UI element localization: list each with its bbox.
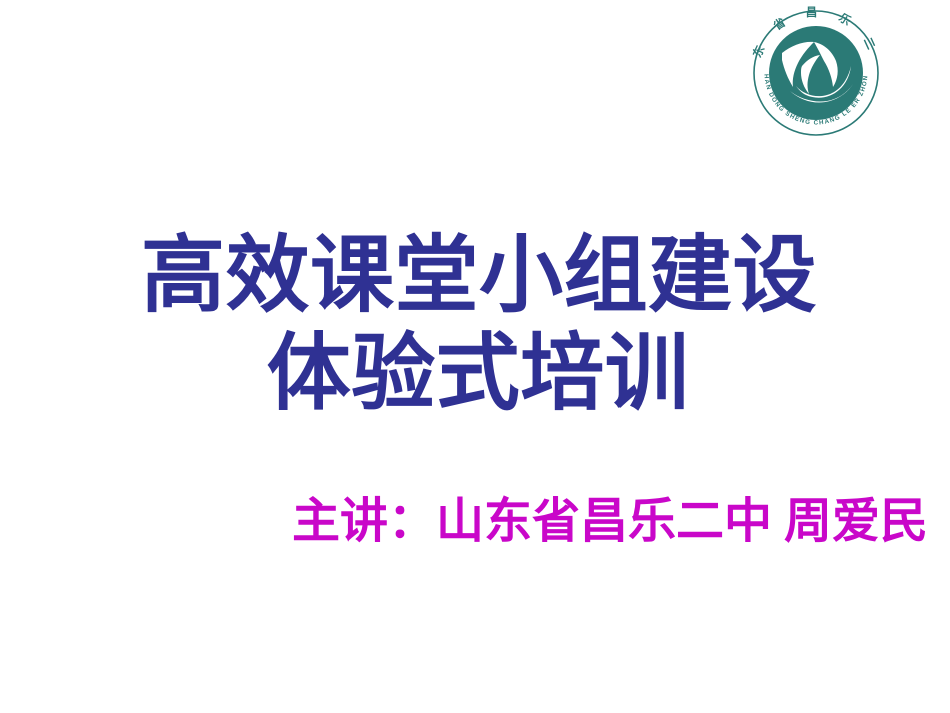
slide-presenter: 主讲：山东省昌乐二中 周爱民 xyxy=(0,493,950,551)
title-line-1: 高效课堂小组建设 xyxy=(0,228,950,326)
school-logo: 山 东 省 昌 乐 二 中 SHAN DONG SHENG CHANG LE E… xyxy=(744,3,888,137)
presentation-slide: 山 东 省 昌 乐 二 中 SHAN DONG SHENG CHANG LE E… xyxy=(0,0,950,713)
slide-title: 高效课堂小组建设 体验式培训 xyxy=(0,228,950,424)
school-emblem-graphic: 山 东 省 昌 乐 二 中 SHAN DONG SHENG CHANG LE E… xyxy=(744,3,888,137)
presenter-line: 主讲：山东省昌乐二中 周爱民 xyxy=(270,493,950,551)
title-line-2: 体验式培训 xyxy=(0,326,950,424)
